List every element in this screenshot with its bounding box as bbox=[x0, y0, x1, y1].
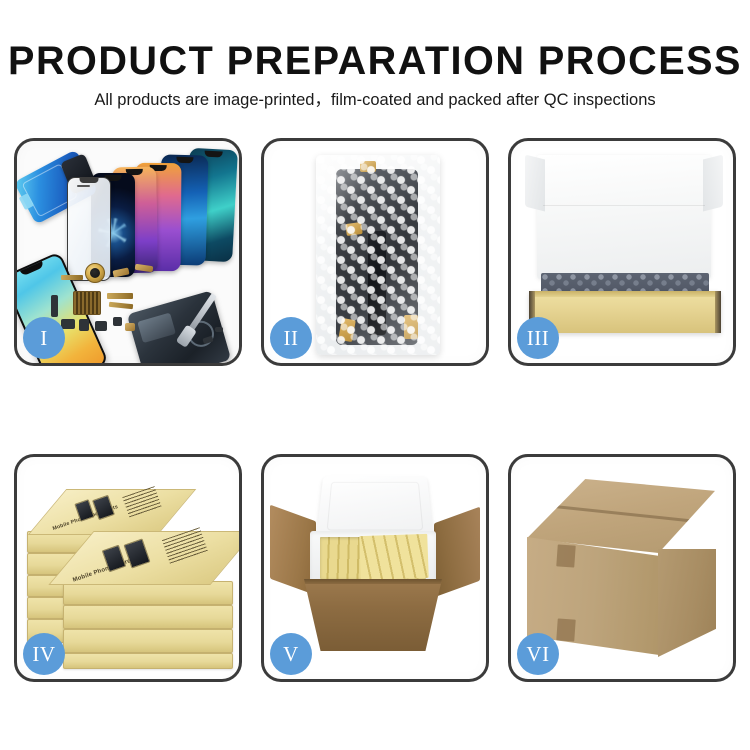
spare-part bbox=[61, 319, 75, 329]
tray-edge-right bbox=[715, 291, 721, 333]
notch-icon bbox=[176, 157, 194, 163]
page-subtitle: All products are image-printed，film-coat… bbox=[0, 90, 750, 110]
spare-part bbox=[61, 275, 83, 280]
glass-notch-cutout bbox=[80, 178, 99, 183]
box-edge bbox=[63, 605, 233, 629]
box-edge bbox=[63, 653, 233, 669]
plastic-gloss bbox=[316, 155, 440, 355]
step-badge-5: V bbox=[270, 633, 312, 675]
carton-body bbox=[304, 579, 442, 651]
foam-box-lid bbox=[316, 476, 433, 537]
spare-part bbox=[51, 295, 58, 317]
carton-seam bbox=[542, 503, 699, 522]
lid-flap-right bbox=[703, 155, 723, 212]
spare-part bbox=[95, 321, 107, 331]
step-panel-6: VI bbox=[508, 454, 736, 682]
lid-fold-line bbox=[543, 205, 705, 206]
camera-lens-part bbox=[85, 263, 105, 283]
glass-speaker-slot bbox=[77, 185, 90, 187]
notch-icon bbox=[204, 151, 223, 158]
spare-part bbox=[113, 317, 122, 326]
screw-tray-part bbox=[73, 291, 101, 315]
tray-lip bbox=[529, 291, 721, 297]
step-badge-3: III bbox=[517, 317, 559, 359]
step-panel-1: I bbox=[14, 138, 242, 366]
step-badge-6: VI bbox=[517, 633, 559, 675]
step-badge-1: I bbox=[23, 317, 65, 359]
lid-flap-left bbox=[525, 155, 545, 212]
white-box-lid bbox=[537, 155, 711, 279]
header: PRODUCT PREPARATION PROCESS All products… bbox=[0, 38, 750, 110]
spare-part bbox=[79, 319, 89, 331]
step-badge-4: IV bbox=[23, 633, 65, 675]
screw-part bbox=[215, 327, 223, 332]
step-panel-4: Mobile Phone Spare Parts Mobile Phone Sp… bbox=[14, 454, 242, 682]
yellow-box-tray bbox=[529, 291, 721, 333]
step-panel-3: III bbox=[508, 138, 736, 366]
step-panel-5: V bbox=[261, 454, 489, 682]
yellow-boxes-row bbox=[359, 534, 428, 580]
process-steps-grid: I II bbox=[14, 138, 736, 700]
step-panel-2: II bbox=[261, 138, 489, 366]
carton-tape bbox=[556, 618, 575, 641]
box-edge bbox=[63, 629, 233, 653]
spare-part bbox=[125, 323, 135, 331]
product-preparation-infographic: PRODUCT PREPARATION PROCESS All products… bbox=[0, 0, 750, 750]
bubble-wrap-bag bbox=[316, 155, 440, 355]
step-badge-2: II bbox=[270, 317, 312, 359]
page-title: PRODUCT PREPARATION PROCESS bbox=[4, 38, 747, 84]
flex-cable-part bbox=[107, 293, 133, 299]
carton-tape bbox=[556, 544, 575, 567]
carton-side-face bbox=[658, 549, 716, 657]
